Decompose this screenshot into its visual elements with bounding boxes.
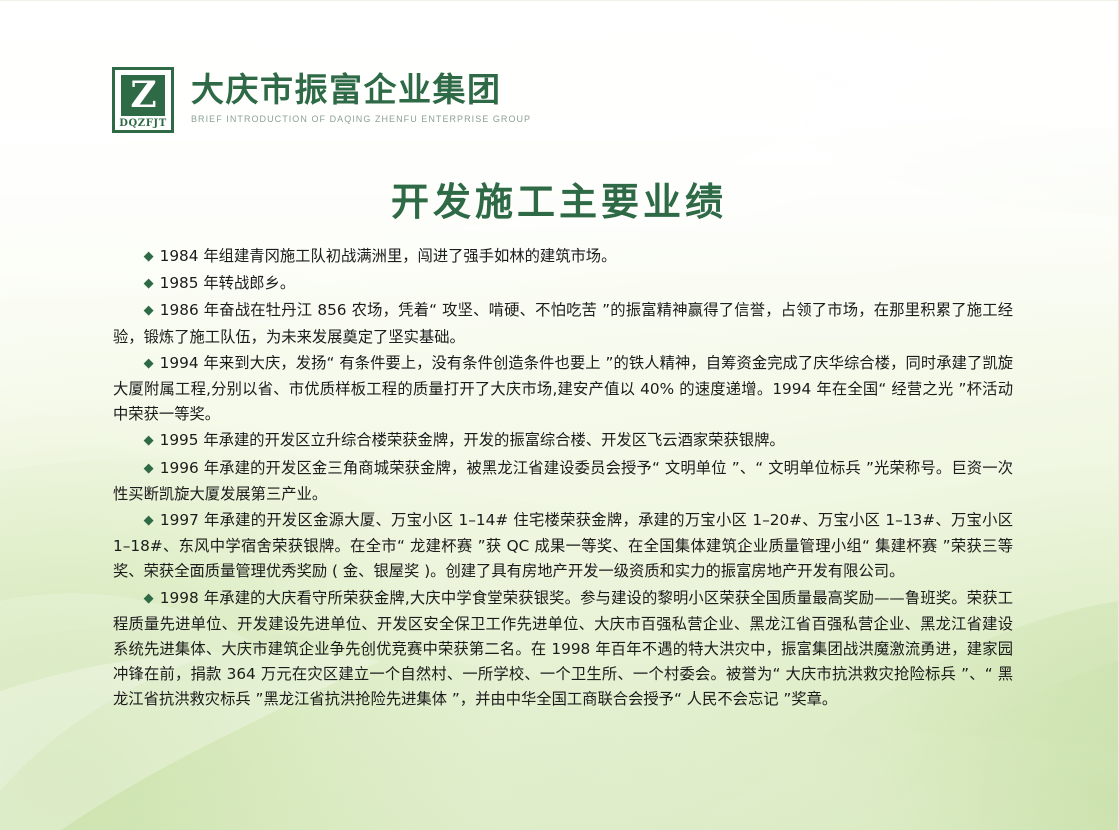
paragraph-1984: ◆1984 年组建青冈施工队初战满洲里，闯进了强手如林的建筑市场。 <box>113 244 1013 270</box>
company-name-en: BRIEF INTRODUCTION OF DAQING ZHENFU ENTE… <box>191 114 531 124</box>
diamond-bullet-icon: ◆ <box>144 276 154 291</box>
body-content: ◆1984 年组建青冈施工队初战满洲里，闯进了强手如林的建筑市场。 ◆1985 … <box>113 244 1013 713</box>
paragraph-1995: ◆1995 年承建的开发区立升综合楼荣获金牌，开发的振富综合楼、开发区飞云酒家荣… <box>113 428 1013 454</box>
paragraph-text: 1994 年来到大庆，发扬“ 有条件要上，没有条件创造条件也要上 ”的铁人精神，… <box>113 354 1013 423</box>
company-logo-icon: Z DQZFJT <box>112 67 174 133</box>
company-name-cn: 大庆市振富企业集团 <box>191 72 531 109</box>
diamond-bullet-icon: ◆ <box>144 433 154 448</box>
paragraph-1986: ◆1986 年奋战在牡丹江 856 农场，凭着“ 攻坚、啃硬、不怕吃苦 ”的振富… <box>113 298 1013 349</box>
paragraph-text: 1985 年转战郎乡。 <box>160 274 296 292</box>
presentation-slide: Z DQZFJT 大庆市振富企业集团 BRIEF INTRODUCTION OF… <box>0 0 1119 830</box>
paragraph-text: 1986 年奋战在牡丹江 856 农场，凭着“ 攻坚、啃硬、不怕吃苦 ”的振富精… <box>113 301 1013 345</box>
paragraph-1996: ◆1996 年承建的开发区金三角商城荣获金牌，被黑龙江省建设委员会授予“ 文明单… <box>113 456 1013 507</box>
logo-abbreviation: DQZFJT <box>115 118 171 129</box>
paragraph-text: 1995 年承建的开发区立升综合楼荣获金牌，开发的振富综合楼、开发区飞云酒家荣获… <box>160 431 785 449</box>
logo-z-block: Z <box>121 75 165 116</box>
paragraph-text: 1984 年组建青冈施工队初战满洲里，闯进了强手如林的建筑市场。 <box>160 247 617 265</box>
paragraph-1994: ◆1994 年来到大庆，发扬“ 有条件要上，没有条件创造条件也要上 ”的铁人精神… <box>113 351 1013 428</box>
diamond-bullet-icon: ◆ <box>144 591 154 606</box>
paragraph-1998: ◆1998 年承建的大庆看守所荣获金牌,大庆中学食堂荣获银奖。参与建设的黎明小区… <box>113 586 1013 712</box>
paragraph-1997: ◆1997 年承建的开发区金源大厦、万宝小区 1–14# 住宅楼荣获金牌，承建的… <box>113 508 1013 585</box>
paragraph-text: 1997 年承建的开发区金源大厦、万宝小区 1–14# 住宅楼荣获金牌，承建的万… <box>113 511 1013 580</box>
diamond-bullet-icon: ◆ <box>144 461 154 476</box>
logo-letter: Z <box>130 77 155 113</box>
paragraph-text: 1998 年承建的大庆看守所荣获金牌,大庆中学食堂荣获银奖。参与建设的黎明小区荣… <box>113 589 1013 708</box>
diamond-bullet-icon: ◆ <box>144 356 154 371</box>
diamond-bullet-icon: ◆ <box>144 249 154 264</box>
paragraph-1985: ◆1985 年转战郎乡。 <box>113 271 1013 297</box>
diamond-bullet-icon: ◆ <box>144 513 154 528</box>
brand-header: Z DQZFJT 大庆市振富企业集团 BRIEF INTRODUCTION OF… <box>112 67 531 133</box>
paragraph-text: 1996 年承建的开发区金三角商城荣获金牌，被黑龙江省建设委员会授予“ 文明单位… <box>113 459 1013 503</box>
page-title: 开发施工主要业绩 <box>0 171 1118 226</box>
diamond-bullet-icon: ◆ <box>144 303 154 318</box>
brand-text-block: 大庆市振富企业集团 BRIEF INTRODUCTION OF DAQING Z… <box>191 67 531 124</box>
